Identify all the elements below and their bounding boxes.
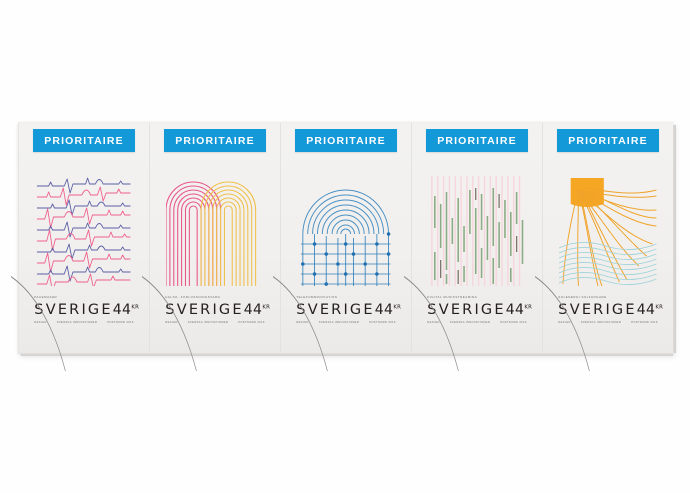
stamp-credits: DESIGN SVENSKA INNOVATIONER POSTNORD 201… [34,321,133,324]
prioritaire-badge: PRIORITAIRE [295,129,396,152]
stamp-halsovard[interactable]: PRIORITAIRE [149,123,280,353]
stamp-credits: DESIGN SVENSKA INNOVATIONER POSTNORD 201… [558,321,657,324]
credit-left: DESIGN [427,321,439,324]
prioritaire-badge: PRIORITAIRE [426,129,527,152]
stamp-country: SVERIGE [165,302,243,318]
stamp-artwork-ecg [35,174,132,286]
stamp-value: 44KR [375,302,401,318]
stamp-caption: TELEKOMMUNIKATION SVERIGE 44KR DESIGN SV… [295,295,396,324]
credit-center: SVENSKA INNOVATIONER [581,321,621,324]
stamp-country: SVERIGE [427,302,505,318]
credit-center: SVENSKA INNOVATIONER [319,321,359,324]
credit-right: POSTNORD 2016 [631,321,658,324]
stamp-pacemaker[interactable]: PRIORITAIRE [19,123,149,353]
stamp-artwork-network [297,174,394,286]
credit-left: DESIGN [296,321,308,324]
prioritaire-badge: PRIORITAIRE [33,129,134,152]
stamp-caption: DIGITAL MUSIKSTREAMING SVERIGE 44KR DESI… [426,295,527,324]
stamp-telekommunikation[interactable]: PRIORITAIRE [280,123,411,353]
stamp-musikstreaming[interactable]: PRIORITAIRE [411,123,542,353]
stamp-artwork-sun [559,174,656,286]
stamp-country: SVERIGE [296,302,374,318]
credit-center: SVENSKA INNOVATIONER [450,321,490,324]
stamp-credits: DESIGN SVENSKA INNOVATIONER POSTNORD 201… [165,321,264,324]
credit-right: POSTNORD 2016 [500,321,527,324]
credit-right: POSTNORD 2016 [238,321,265,324]
photo-canvas: PRIORITAIRE [0,0,690,493]
stamp-credits: DESIGN SVENSKA INNOVATIONER POSTNORD 201… [427,321,526,324]
stamp-value: 44KR [506,302,532,318]
credit-left: DESIGN [558,321,570,324]
credit-center: SVENSKA INNOVATIONER [57,321,97,324]
stamp-credits: DESIGN SVENSKA INNOVATIONER POSTNORD 201… [296,321,395,324]
prioritaire-badge: PRIORITAIRE [164,129,265,152]
credit-right: POSTNORD 2016 [107,321,134,324]
stamp-artwork-arches [166,174,263,286]
stamp-caption: PACEMAKER SVERIGE 44KR DESIGN SVENSKA IN… [33,295,134,324]
stamp-topic: PACEMAKER [34,295,133,299]
credit-left: DESIGN [165,321,177,324]
stamp-topic: SOLENERGI SOLFANGARE [558,295,657,299]
stamp-country: SVERIGE [558,302,636,318]
credit-left: DESIGN [34,321,46,324]
stamp-country: SVERIGE [34,302,112,318]
stamp-artwork-equalizer [428,174,525,286]
stamp-caption: HALSO- FORLOSSNINGSVARD SVERIGE 44KR DES… [164,295,265,324]
credit-right: POSTNORD 2016 [369,321,396,324]
stamp-sheet: PRIORITAIRE [18,122,673,353]
stamp-caption: SOLENERGI SOLFANGARE SVERIGE 44KR DESIGN… [557,295,658,324]
credit-center: SVENSKA INNOVATIONER [188,321,228,324]
stamp-topic: TELEKOMMUNIKATION [296,295,395,299]
stamp-value: 44KR [637,302,663,318]
stamp-topic: DIGITAL MUSIKSTREAMING [427,295,526,299]
sheet-edge-right [673,125,676,353]
stamp-topic: HALSO- FORLOSSNINGSVARD [165,295,264,299]
stamp-value: 44KR [113,302,139,318]
stamp-row: PRIORITAIRE [19,123,673,353]
sheet-edge-bottom [21,353,673,356]
prioritaire-badge: PRIORITAIRE [557,129,658,152]
stamp-value: 44KR [244,302,270,318]
stamp-solenergi[interactable]: PRIORITAIRE [542,123,673,353]
